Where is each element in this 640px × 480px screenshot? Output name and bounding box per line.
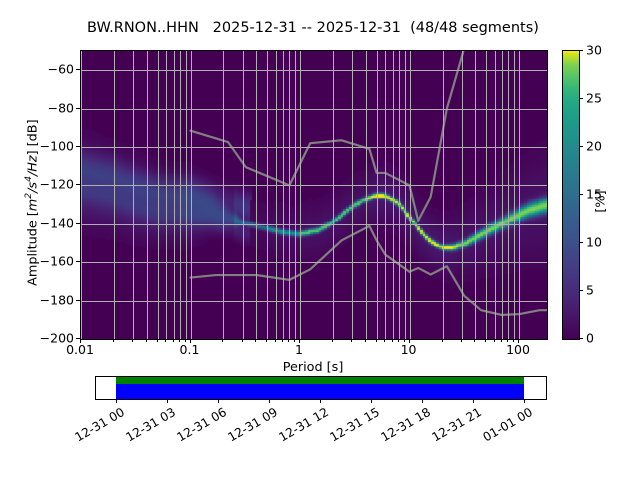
timeline-tick-mark xyxy=(320,399,321,403)
gridline-horizontal xyxy=(81,185,547,186)
gridline-vertical xyxy=(352,51,353,339)
gridline-vertical xyxy=(283,51,284,339)
y-axis-tick-mark xyxy=(76,184,80,185)
x-axis-minor-tick-mark xyxy=(132,339,133,342)
ppsd-plot-area xyxy=(80,50,548,340)
x-axis-tick-label: 100 xyxy=(506,342,530,357)
gridline-vertical xyxy=(508,51,509,339)
colorbar-tick-mark xyxy=(579,194,583,195)
timeline-tick-mark xyxy=(422,399,423,403)
gridline-vertical xyxy=(475,51,476,339)
x-axis-minor-tick-mark xyxy=(242,339,243,342)
x-axis-minor-tick-mark xyxy=(376,339,377,342)
timeline-tick-mark xyxy=(473,399,474,403)
x-axis-tick-label: 1 xyxy=(295,342,303,357)
x-axis-minor-tick-mark xyxy=(513,339,514,342)
gridline-vertical xyxy=(385,51,386,339)
x-axis-minor-tick-mark xyxy=(173,339,174,342)
x-axis-label: Period [s] xyxy=(80,360,546,375)
colorbar-tick-label: 15 xyxy=(586,187,602,202)
y-axis-tick-mark xyxy=(76,223,80,224)
gridline-horizontal xyxy=(81,70,547,71)
gridline-vertical xyxy=(243,51,244,339)
gridline-vertical xyxy=(405,51,406,339)
x-axis-minor-tick-mark xyxy=(494,339,495,342)
x-axis-tick-label: 10 xyxy=(401,342,417,357)
x-axis-minor-tick-mark xyxy=(365,339,366,342)
timeline-tick-label: 12-31 06 xyxy=(168,405,229,448)
gridline-vertical xyxy=(81,51,82,339)
plot-clip xyxy=(81,51,547,339)
x-axis-tick-mark xyxy=(518,339,519,343)
x-axis-minor-tick-mark xyxy=(255,339,256,342)
gridline-vertical xyxy=(443,51,444,339)
gridline-vertical xyxy=(366,51,367,339)
y-axis-unit-m: m xyxy=(26,199,41,211)
gridline-vertical xyxy=(393,51,394,339)
gridline-horizontal xyxy=(81,109,547,110)
colorbar-tick-label: 20 xyxy=(586,139,602,154)
x-axis-minor-tick-mark xyxy=(282,339,283,342)
gridline-horizontal xyxy=(81,301,547,302)
timeline-tick-mark xyxy=(524,399,525,403)
colorbar-tick-mark xyxy=(579,290,583,291)
x-axis-tick-mark xyxy=(299,339,300,343)
x-axis-minor-tick-mark xyxy=(351,339,352,342)
y-axis-unit-per-hz: /Hz xyxy=(26,155,41,176)
timeline-tick-label: 12-31 09 xyxy=(219,405,280,448)
colorbar-label: [%] xyxy=(594,157,609,247)
gridline-vertical xyxy=(514,51,515,339)
x-axis-minor-tick-mark xyxy=(179,339,180,342)
colorbar-tick-mark xyxy=(579,146,583,147)
x-axis-minor-tick-mark xyxy=(146,339,147,342)
gridline-vertical xyxy=(399,51,400,339)
gridline-vertical xyxy=(166,51,167,339)
gridline-vertical xyxy=(519,51,520,339)
gridline-vertical xyxy=(186,51,187,339)
x-axis-tick-mark xyxy=(409,339,410,343)
x-axis-minor-tick-mark xyxy=(157,339,158,342)
y-axis-tick-label: −120 xyxy=(4,177,74,192)
low-noise-model-line xyxy=(191,226,547,315)
timeline-tick-label: 12-31 18 xyxy=(372,405,433,448)
colorbar-tick-label: 30 xyxy=(586,43,602,58)
timeline-tick-mark xyxy=(218,399,219,403)
timeline-tick-mark xyxy=(167,399,168,403)
x-axis-minor-tick-mark xyxy=(165,339,166,342)
gridline-vertical xyxy=(256,51,257,339)
x-axis-minor-tick-mark xyxy=(288,339,289,342)
gridline-vertical xyxy=(295,51,296,339)
gridline-vertical xyxy=(410,51,411,339)
timeline-tick-mark xyxy=(269,399,270,403)
y-axis-tick-label: −80 xyxy=(4,100,74,115)
timeline-tick-label: 12-31 21 xyxy=(423,405,484,448)
gridline-vertical xyxy=(377,51,378,339)
gridline-horizontal xyxy=(81,147,547,148)
high-noise-model-line xyxy=(191,51,547,221)
gridline-vertical xyxy=(289,51,290,339)
colorbar-tick-mark xyxy=(579,98,583,99)
timeline-tick-label: 12-31 12 xyxy=(270,405,331,448)
timeline-tick-label: 12-31 00 xyxy=(66,405,127,448)
colorbar-tick-label: 5 xyxy=(586,283,594,298)
y-axis-tick-label: −180 xyxy=(4,292,74,307)
x-axis-minor-tick-mark xyxy=(113,339,114,342)
gridline-vertical xyxy=(147,51,148,339)
y-axis-tick-mark xyxy=(76,300,80,301)
y-axis-unit-exp2: 2 xyxy=(23,193,34,199)
y-axis-tick-label: −200 xyxy=(4,331,74,346)
colorbar-tick-mark xyxy=(579,338,583,339)
timeline-tick-mark xyxy=(116,399,117,403)
timeline-tick-mark xyxy=(371,399,372,403)
gridline-vertical xyxy=(486,51,487,339)
y-axis-tick-mark xyxy=(76,108,80,109)
data-coverage-timeline[interactable] xyxy=(95,376,547,400)
y-axis-tick-mark xyxy=(76,261,80,262)
x-axis-minor-tick-mark xyxy=(404,339,405,342)
y-axis-tick-label: −60 xyxy=(4,62,74,77)
x-axis-minor-tick-mark xyxy=(185,339,186,342)
x-axis-minor-tick-mark xyxy=(294,339,295,342)
gridline-vertical xyxy=(180,51,181,339)
colorbar-tick-label: 25 xyxy=(586,91,602,106)
page-title: BW.RNON..HHN 2025-12-31 -- 2025-12-31 (4… xyxy=(0,20,626,36)
colorbar-tick-mark xyxy=(579,242,583,243)
gridline-vertical xyxy=(495,51,496,339)
colorbar-tick-mark xyxy=(579,50,583,51)
gridline-horizontal xyxy=(81,224,547,225)
timeline-tick-label: 12-31 03 xyxy=(117,405,178,448)
x-axis-minor-tick-mark xyxy=(384,339,385,342)
gridline-vertical xyxy=(223,51,224,339)
x-axis-minor-tick-mark xyxy=(332,339,333,342)
gridline-vertical xyxy=(502,51,503,339)
x-axis-tick-label: 0.1 xyxy=(180,342,200,357)
x-axis-minor-tick-mark xyxy=(222,339,223,342)
y-axis-tick-label: −140 xyxy=(4,215,74,230)
x-axis-minor-tick-mark xyxy=(275,339,276,342)
coverage-band-blue xyxy=(116,384,524,399)
x-axis-minor-tick-mark xyxy=(461,339,462,342)
y-axis-tick-label: −160 xyxy=(4,254,74,269)
x-axis-minor-tick-mark xyxy=(398,339,399,342)
gridline-vertical xyxy=(158,51,159,339)
timeline-tick-label: 01-01 00 xyxy=(474,405,535,448)
noise-model-curves xyxy=(81,51,547,339)
colorbar-tick-label: 0 xyxy=(586,331,594,346)
gridline-vertical xyxy=(276,51,277,339)
y-axis-tick-mark xyxy=(76,69,80,70)
x-axis-minor-tick-mark xyxy=(474,339,475,342)
coverage-band-green xyxy=(116,377,524,384)
x-axis-tick-mark xyxy=(80,339,81,343)
x-axis-tick-mark xyxy=(190,339,191,343)
x-axis-minor-tick-mark xyxy=(507,339,508,342)
x-axis-minor-tick-mark xyxy=(442,339,443,342)
y-axis-tick-mark xyxy=(76,146,80,147)
figure-canvas: BW.RNON..HHN 2025-12-31 -- 2025-12-31 (4… xyxy=(0,0,640,480)
x-axis-minor-tick-mark xyxy=(392,339,393,342)
gridline-vertical xyxy=(462,51,463,339)
gridline-vertical xyxy=(333,51,334,339)
colorbar-tick-label: 10 xyxy=(586,235,602,250)
y-axis-tick-label: −100 xyxy=(4,139,74,154)
timeline-tick-label: 12-31 15 xyxy=(321,405,382,448)
gridline-vertical xyxy=(133,51,134,339)
gridline-vertical xyxy=(174,51,175,339)
x-axis-tick-label: 0.01 xyxy=(66,342,94,357)
colorbar xyxy=(562,50,580,340)
x-axis-minor-tick-mark xyxy=(501,339,502,342)
x-axis-minor-tick-mark xyxy=(266,339,267,342)
gridline-vertical xyxy=(300,51,301,339)
gridline-vertical xyxy=(191,51,192,339)
gridline-vertical xyxy=(267,51,268,339)
gridline-horizontal xyxy=(81,262,547,263)
gridline-vertical xyxy=(114,51,115,339)
x-axis-minor-tick-mark xyxy=(485,339,486,342)
